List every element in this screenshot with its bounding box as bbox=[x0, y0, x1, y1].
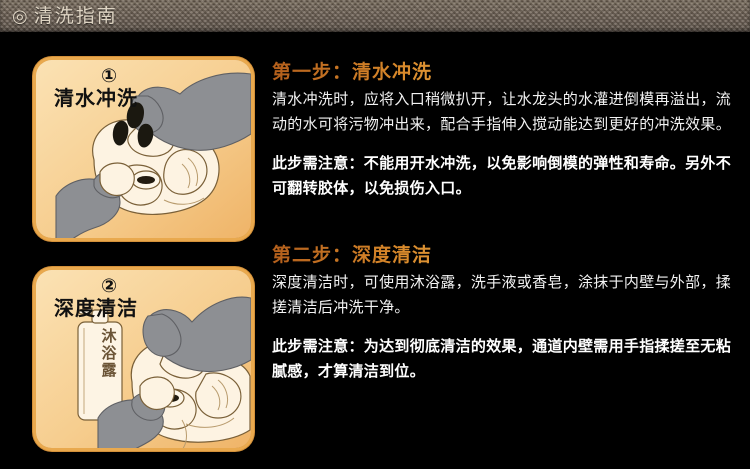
page-header: ◎清洗指南 bbox=[0, 0, 750, 32]
cleaning-guide-page: ◎清洗指南 bbox=[0, 0, 750, 469]
step-2-block: 第二步：深度清洁 深度清洁时，可使用沐浴露，洗手液或香皂，涂抹于内壁与外部，揉搓… bbox=[272, 243, 742, 384]
step-1-note: 此步需注意：不能用开水冲洗，以免影响倒模的弹性和寿命。另外不可翻转胶体，以免损伤… bbox=[272, 151, 742, 201]
bottle-label-char-3: 露 bbox=[98, 362, 120, 379]
hands-rinsing-illustration bbox=[36, 60, 251, 238]
step-1-title: 第一步：清水冲洗 bbox=[272, 60, 742, 86]
instructions-column: 第一步：清水冲洗 清水冲洗时，应将入口稍微扒开，让水龙头的水灌进倒模再溢出，流动… bbox=[272, 60, 742, 394]
bottle-label-char-1: 沐 bbox=[98, 328, 120, 345]
step-2-body: 深度清洁时，可使用沐浴露，洗手液或香皂，涂抹于内壁与外部，揉搓清洁后冲洗干净。 bbox=[272, 270, 742, 320]
step-1-block: 第一步：清水冲洗 清水冲洗时，应将入口稍微扒开，让水龙头的水灌进倒模再溢出，流动… bbox=[272, 60, 742, 201]
hands-with-body-wash-illustration bbox=[36, 270, 251, 448]
circle-mark-icon: ◎ bbox=[12, 6, 30, 26]
step-1-body: 清水冲洗时，应将入口稍微扒开，让水龙头的水灌进倒模再溢出，流动的水可将污物冲出来… bbox=[272, 87, 742, 137]
bottle-label-char-2: 浴 bbox=[98, 345, 120, 362]
step-2-note: 此步需注意：为达到彻底清洁的效果，通道内壁需用手指揉搓至无粘腻感，才算清洁到位。 bbox=[272, 334, 742, 384]
page-title-text: 清洗指南 bbox=[34, 6, 118, 27]
step-2-title: 第二步：深度清洁 bbox=[272, 243, 742, 269]
illustration-panel-step-1: ① 清水冲洗 bbox=[36, 60, 251, 238]
page-title: ◎清洗指南 bbox=[12, 4, 118, 29]
bottle-label: 沐 浴 露 bbox=[98, 328, 120, 379]
illustration-panel-step-2: 沐 浴 露 ② 深度清洁 bbox=[36, 270, 251, 448]
